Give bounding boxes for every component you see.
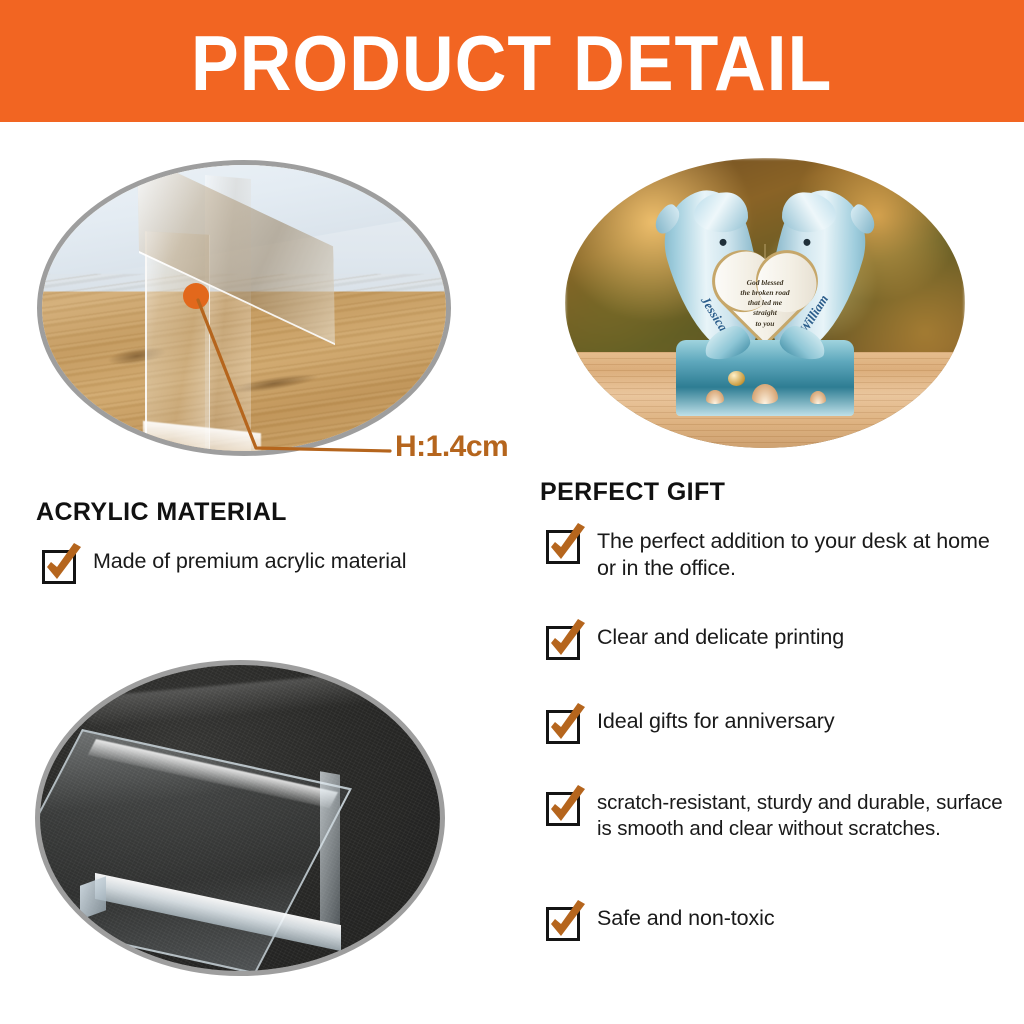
seashell-icon: [706, 390, 724, 404]
height-dimension-label: H:1.4cm: [395, 430, 508, 464]
dolphin-ornament-photo: Jessica William God blessedthe broken ro…: [565, 158, 965, 448]
block-right-face: [320, 771, 340, 925]
section-heading-perfect-gift: PERFECT GIFT: [540, 478, 725, 507]
list-item: Clear and delicate printing: [546, 624, 996, 660]
section-heading-acrylic-material: ACRYLIC MATERIAL: [36, 498, 287, 527]
list-item: Safe and non-toxic: [546, 905, 996, 941]
pearl-icon: [728, 371, 745, 386]
list-item: The perfect addition to your desk at hom…: [546, 528, 996, 582]
product-detail-banner: PRODUCT DETAIL: [0, 0, 1024, 122]
checkmark-icon: [546, 907, 580, 941]
dolphin-eye: [719, 238, 728, 247]
checkmark-icon: [42, 550, 76, 584]
page-title: PRODUCT DETAIL: [191, 24, 832, 102]
seashell-icon: [752, 384, 778, 404]
list-item: Ideal gifts for anniversary: [546, 708, 996, 744]
wood-table-scene: [42, 165, 446, 451]
dolphin-eye: [803, 238, 812, 247]
list-item-label: Clear and delicate printing: [597, 624, 844, 651]
list-item-label: The perfect addition to your desk at hom…: [597, 528, 996, 582]
list-item-label: Ideal gifts for anniversary: [597, 708, 835, 735]
list-item-label: Safe and non-toxic: [597, 905, 775, 932]
list-item: Made of premium acrylic material: [42, 548, 512, 584]
checkmark-icon: [546, 530, 580, 564]
acrylic-block-edge: [139, 160, 309, 456]
heart-plaque-text: God blessedthe broken roadthat led mestr…: [722, 278, 808, 329]
checkmark-icon: [546, 792, 580, 826]
dolphin-figurine: Jessica William God blessedthe broken ro…: [667, 186, 863, 410]
list-item-label: Made of premium acrylic material: [93, 548, 406, 575]
dolphin-head: [781, 191, 836, 233]
acrylic-block-on-slate-photo: [35, 660, 445, 976]
seashell-icon: [810, 391, 826, 404]
dolphin-head: [693, 191, 748, 233]
acrylic-edge-on-wood-photo: [37, 160, 451, 456]
list-item-label: scratch-resistant, sturdy and durable, s…: [597, 790, 1006, 842]
wave-base: [676, 340, 854, 416]
checkmark-icon: [546, 710, 580, 744]
checkmark-icon: [546, 626, 580, 660]
list-item: scratch-resistant, sturdy and durable, s…: [546, 790, 1006, 842]
clear-acrylic-block: [82, 729, 358, 939]
